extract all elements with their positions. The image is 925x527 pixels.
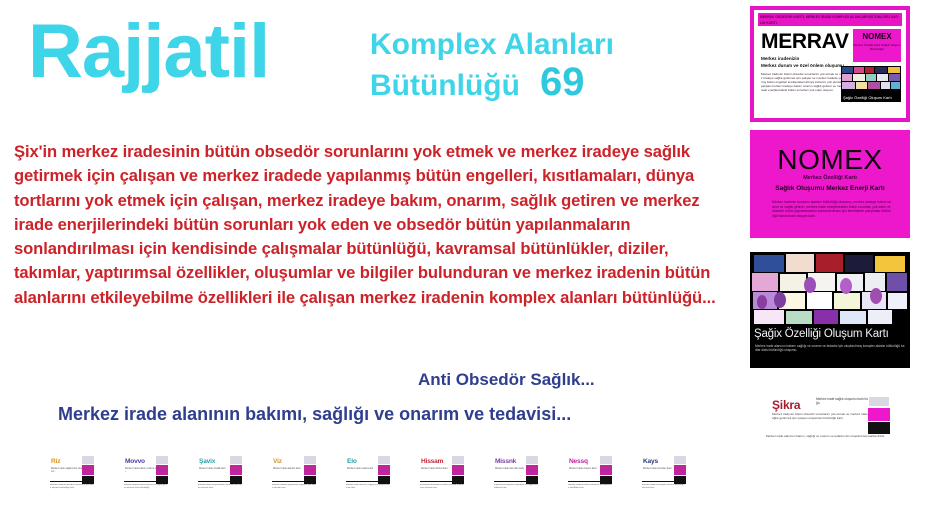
card-nomex-subtitle-2: Sağlık Oluşumu Merkez Enerji Kartı [750,185,910,192]
card-merrav-nomex-chip: NOMEX Merkez Özellik Kartı Sağlık Oluşum… [853,29,901,62]
chip-strip-icon [378,456,390,484]
card-sikra-footer: Merkez irade alanının bakımı, sağlığı ve… [766,434,902,446]
card-merrav-thumbnail: Şağix Özelliği Oluşum Kartı [841,66,901,102]
card-merrav-thumbnail-label: Şağix Özelliği Oluşum Kartı [843,95,892,100]
thumbnail-card[interactable]: Movvo Merkez irade bakım onarım kartı Me… [122,452,170,508]
card-merrav-title: MERRAV [761,30,849,54]
chip-strip-icon [230,456,242,484]
thumbnail-label: Elo [347,458,357,465]
thumbnail-card[interactable]: Kays Merkez irade komplex kartı Merkez i… [640,452,688,508]
thumbnail-chip [378,456,390,484]
thumbnail-head: Merkez irade komplex kartı [643,467,677,476]
thumbnail-body: Kavramsal bütünlükler diziler takımlar b… [420,484,464,499]
thumbnail-chip [452,456,464,484]
thumbnail-body: Merkez iradede yapılanmış engelleri yok … [272,484,316,499]
thumbnail-head: Merkez irade sağlık kartı oluşumu [51,467,85,476]
thumbnail-label: Missnk [495,458,516,465]
card-sagix[interactable]: Şağix Özelliği Oluşum Kartı Merkez irade… [750,252,910,368]
card-merrav-nomex-chip-sub: Merkez Özellik Kartı Sağlık Oluşum Bütün… [853,43,901,51]
card-merrav-subtitle-1: Merkez iradenizin [761,55,856,62]
chip-strip-icon [526,456,538,484]
card-sagix-paragraph: Merkez irade alanının bakımı sağlığı ve … [755,344,905,358]
thumbnail-head: Merkez irade alanları kartı [273,467,307,476]
tagline-anti-obsedor: Anti Obsedör Sağlık... [418,370,595,390]
thumbnail-body: Yaptırımsal özellikler oluşumlar ve bilg… [494,484,538,499]
thumbnail-strip: Riz Merkez irade sağlık kartı oluşumu Me… [48,452,688,510]
thumbnail-head: Merkez irade bakım onarım kartı [125,467,159,476]
header: Rajjatil Komplex Alanları Bütünlüğü 69 [0,0,745,138]
card-merrav[interactable]: MERRAV OBSEDÖR KARTI, MERKEZ IRADE KOMPL… [750,6,910,122]
thumbnail-label: Movvo [125,458,145,465]
thumbnail-card[interactable]: Hissam Merkez irade dizileri kartı Kavra… [418,452,466,508]
thumbnail-body: Merkez irade enerjilerindeki sorunları y… [198,484,242,499]
chip-strip-icon [674,456,686,484]
thumbnail-card[interactable]: Elo Merkez irade tedavi kartı Merkez ira… [344,452,392,508]
chip-strip-icon [452,456,464,484]
chip-strip-icon [82,456,94,484]
card-sikra-title: Şikra [772,398,800,412]
thumbnail-chip [230,456,242,484]
thumbnail-card[interactable]: Nessq Merkez irade oluşum kartı Merkez i… [566,452,614,508]
thumbnail-body: Merkez iradenin obsedör sorunlarını yok … [50,484,94,499]
thumbnail-chip [82,456,94,484]
page-number: 69 [540,62,585,102]
subtitle-block: Komplex Alanları Bütünlüğü 69 [370,28,740,102]
card-nomex-title: NOMEX [750,144,910,176]
card-sagix-title: Şağix Özelliği Oluşum Kartı [754,328,889,340]
thumbnail-body: Merkez iradeye bakım onarım ve sağlık ge… [124,484,168,499]
chip-strip-icon [156,456,168,484]
thumbnail-chip [600,456,612,484]
thumbnail-head: Merkez irade oluşum kartı [569,467,603,476]
card-sikra-paragraph: Merkez iradenin bütün obsedör sorunların… [772,412,874,429]
thumbnail-label: Riz [51,458,60,465]
thumbnail-card[interactable]: Riz Merkez irade sağlık kartı oluşumu Me… [48,452,96,508]
thumbnail-label: Hissam [421,458,443,465]
thumbnail-body: Merkez iradenin komplex alanları bütünlü… [642,484,686,499]
card-merrav-band: MERRAV OBSEDÖR KARTI, MERKEZ IRADE KOMPL… [758,13,902,26]
thumbnail-body: Merkez iradenin bütün alanlarını etkiley… [568,484,612,499]
subtitle-line-1: Komplex Alanları [370,28,740,62]
thumbnail-head: Merkez irade özellik kartı [199,467,233,476]
card-merrav-nomex-chip-title: NOMEX [862,32,891,41]
chip-strip-icon [600,456,612,484]
thumbnail-chip [674,456,686,484]
thumbnail-chip [526,456,538,484]
thumbnail-card[interactable]: Missnk Merkez irade takımları kartı Yapt… [492,452,540,508]
thumbnail-label: Nessq [569,458,588,465]
thumbnail-head: Merkez irade dizileri kartı [421,467,455,476]
card-sikra[interactable]: Şikra Merkez irade sağlık oluşumu kartı … [758,388,910,450]
card-merrav-paragraph: Merkez iradenin bütün obsedör sorunların… [761,72,849,114]
thumbnail-body: Merkez irade alanının sağlığı için çalış… [346,484,390,499]
slide-canvas: Rajjatil Komplex Alanları Bütünlüğü 69 Ş… [0,0,925,527]
thumbnail-head: Merkez irade takımları kartı [495,467,529,476]
collage-icon [750,252,910,326]
thumbnail-chip [156,456,168,484]
collage-mini-icon [841,66,901,90]
card-nomex[interactable]: NOMEX Merkez Özelliği Kartı Sağlık Oluşu… [750,130,910,238]
card-sikra-head: Merkez irade sağlık oluşumu kartı bütünl… [816,397,876,407]
thumbnail-label: Şavix [199,458,215,465]
thumbnail-label: Kays [643,458,658,465]
chip-strip-icon [304,456,316,484]
thumbnail-card[interactable]: Viz Merkez irade alanları kartı Merkez i… [270,452,318,508]
body-paragraph-text: Şix'in merkez iradesinin bütün obsedör s… [14,140,730,310]
card-nomex-subtitle-1: Merkez Özelliği Kartı [750,175,910,181]
tagline-merkez-irade: Merkez irade alanının bakımı, sağlığı ve… [58,404,571,425]
subtitle-line-2: Bütünlüğü [370,69,520,103]
page-title: Rajjatil [28,14,269,90]
card-sikra-chip [868,396,890,434]
thumbnail-head: Merkez irade tedavi kartı [347,467,381,476]
chip-strip-icon [868,396,890,434]
card-nomex-paragraph: Merkez iradenin komplex alanları bütünlü… [772,200,892,234]
thumbnail-label: Viz [273,458,282,465]
thumbnail-card[interactable]: Şavix Merkez irade özellik kartı Merkez … [196,452,244,508]
thumbnail-chip [304,456,316,484]
body-paragraph: Şix'in merkez iradesinin bütün obsedör s… [14,140,730,310]
